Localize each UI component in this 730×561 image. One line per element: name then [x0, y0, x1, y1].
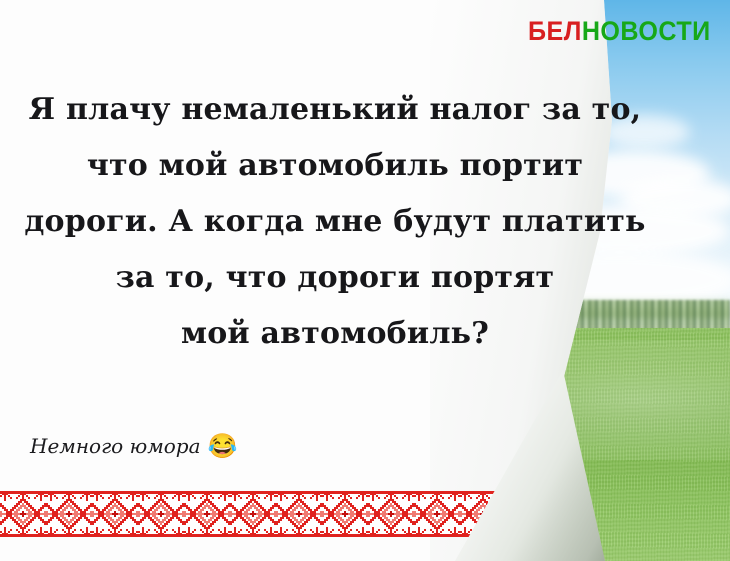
ornament-motif: [276, 491, 322, 537]
ornament-motif: [0, 491, 46, 537]
quote-line: за то, что дороги портят: [0, 250, 670, 306]
logo-text-red: БЕЛ: [528, 16, 582, 46]
ornament-motif: [368, 491, 414, 537]
quote-line: Я плачу немаленький налог за то,: [0, 82, 670, 138]
belarusian-ornament-band: [0, 491, 524, 537]
signature: Немного юмора 😂: [30, 434, 237, 458]
quote-line: дороги. А когда мне будут платить: [0, 194, 670, 250]
signature-label: Немного юмора: [30, 434, 201, 458]
ornament-motif: [414, 491, 460, 537]
quote-text: Я плачу немаленький налог за то, что мой…: [0, 82, 670, 362]
ornament-motif: [184, 491, 230, 537]
logo-text-green: НОВОСТИ: [582, 16, 711, 46]
ornament-top-rule: [0, 491, 524, 494]
quote-line: что мой автомобиль портит: [0, 138, 670, 194]
laughing-emoji-icon: 😂: [208, 434, 238, 458]
ornament-motif: [92, 491, 138, 537]
ornament-bottom-rule: [0, 534, 524, 537]
meme-card: БЕЛНОВОСТИ Я плачу немаленький налог за …: [0, 0, 730, 561]
ornament-motif: [46, 491, 92, 537]
ornament-motif: [230, 491, 276, 537]
ornament-motif: [138, 491, 184, 537]
ornament-motif: [322, 491, 368, 537]
belnovosti-logo[interactable]: БЕЛНОВОСТИ: [528, 16, 711, 47]
quote-line: мой автомобиль?: [0, 306, 670, 362]
